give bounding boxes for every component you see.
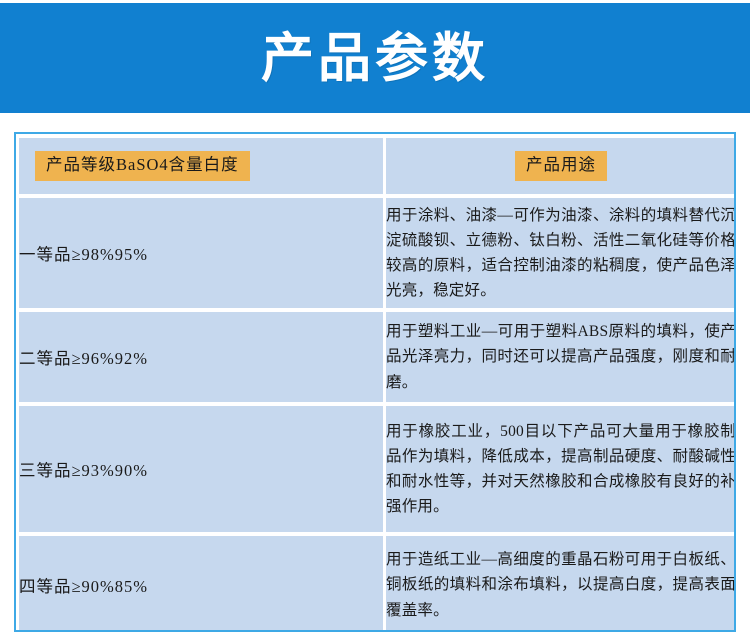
table-row: 一等品≥98%95% 用于涂料、油漆—可作为油漆、涂料的填料替代沉淀硫酸钡、立德… (19, 198, 736, 308)
page-title: 产品参数 (261, 32, 489, 85)
grade-cell-3: 三等品≥93%90% (19, 406, 383, 532)
use-cell-3: 用于橡胶工业，500目以下产品可大量用于橡胶制品作为填料，降低成本，提高制品硬度… (386, 406, 736, 532)
parameters-table: 产品等级BaSO4含量白度 产品用途 一等品≥98%95% 用于涂料、油漆—可作… (16, 134, 736, 632)
grade-cell-4: 四等品≥90%85% (19, 536, 383, 632)
table-row: 四等品≥90%85% 用于造纸工业—高细度的重晶石粉可用于白板纸、铜板纸的填料和… (19, 536, 736, 632)
header-cell-grade: 产品等级BaSO4含量白度 (19, 138, 383, 194)
header-grade-wrap: 产品等级BaSO4含量白度 (19, 138, 383, 194)
table-row: 二等品≥96%92% 用于塑料工业—可用于塑料ABS原料的填料，使产品光泽亮力，… (19, 312, 736, 402)
header-label-grade: 产品等级BaSO4含量白度 (35, 151, 250, 180)
product-parameters-table: 产品等级BaSO4含量白度 产品用途 一等品≥98%95% 用于涂料、油漆—可作… (14, 132, 736, 632)
product-parameters-page: 产品参数 产品等级BaSO4含量白度 产品用途 (0, 0, 750, 640)
grade-cell-1: 一等品≥98%95% (19, 198, 383, 308)
table-row: 三等品≥93%90% 用于橡胶工业，500目以下产品可大量用于橡胶制品作为填料，… (19, 406, 736, 532)
grade-cell-2: 二等品≥96%92% (19, 312, 383, 402)
use-cell-2: 用于塑料工业—可用于塑料ABS原料的填料，使产品光泽亮力，同时还可以提高产品强度… (386, 312, 736, 402)
table-header-row: 产品等级BaSO4含量白度 产品用途 (19, 138, 736, 194)
use-cell-1: 用于涂料、油漆—可作为油漆、涂料的填料替代沉淀硫酸钡、立德粉、钛白粉、活性二氧化… (386, 198, 736, 308)
use-cell-4: 用于造纸工业—高细度的重晶石粉可用于白板纸、铜板纸的填料和涂布填料，以提高白度，… (386, 536, 736, 632)
header-use-wrap: 产品用途 (386, 138, 736, 194)
header-label-use: 产品用途 (515, 151, 607, 180)
header-cell-use: 产品用途 (386, 138, 736, 194)
page-banner: 产品参数 (0, 3, 750, 113)
